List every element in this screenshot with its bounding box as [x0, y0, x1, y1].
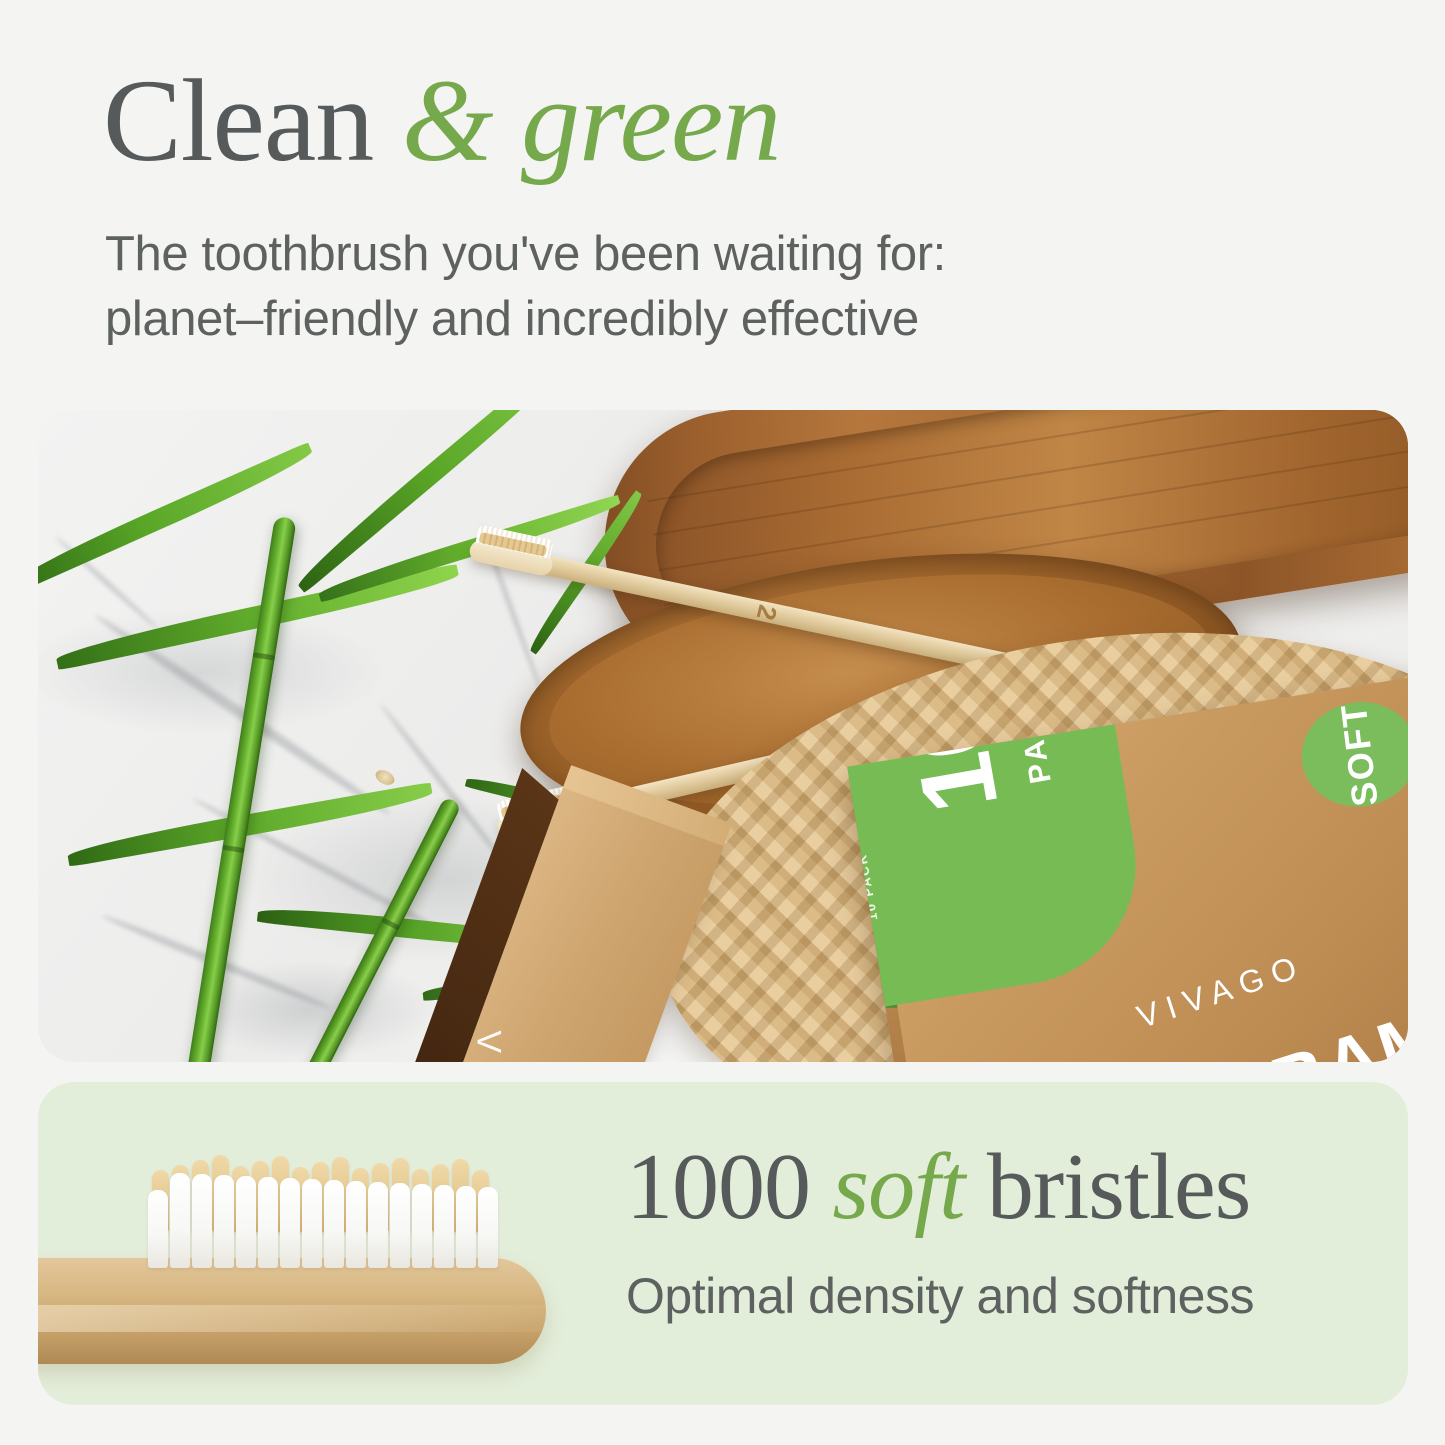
bristle-tuft [434, 1185, 454, 1268]
bristle-tuft [236, 1176, 256, 1268]
sleeve-brand-label: VIVA [469, 1030, 508, 1062]
subtitle-line-2: planet–friendly and incredibly effective [105, 287, 1265, 352]
headline-accent: & green [402, 55, 781, 186]
bristle-tuft [412, 1184, 432, 1268]
feature-subtitle: Optimal density and softness [626, 1268, 1396, 1326]
feature-title-part2: bristles [964, 1135, 1250, 1239]
brush-head-closeup-photo [38, 1100, 586, 1400]
bristle-tuft [148, 1190, 168, 1268]
bristle-tuft [478, 1187, 498, 1268]
box-brand-label: VIVAGO [1132, 947, 1309, 1036]
feature-panel: 1000 soft bristles Optimal density and s… [38, 1082, 1408, 1405]
hero-photo-panel: 2 1 VIVA 10 PACK [38, 410, 1408, 1062]
subtitle-line-1: The toothbrush you've been waiting for: [105, 222, 1265, 287]
bristle-tuft [214, 1175, 234, 1268]
bristle-tuft [368, 1182, 388, 1268]
product-marketing-page: Clean & green The toothbrush you've been… [0, 0, 1445, 1445]
bristle-field [144, 1138, 504, 1278]
bristle-tuft [390, 1183, 410, 1268]
bristle-tuft [170, 1173, 190, 1268]
headline-primary: Clean [103, 55, 402, 186]
feature-title: 1000 soft bristles [626, 1140, 1396, 1234]
bristle-tuft [324, 1180, 344, 1268]
hero-scene: 2 1 VIVA 10 PACK [38, 410, 1408, 1062]
feature-title-accent: soft [833, 1135, 965, 1239]
bristle-tuft [258, 1177, 278, 1268]
soft-badge: SOFT [1294, 694, 1408, 815]
page-title: Clean & green [103, 62, 780, 180]
handle-number: 2 [750, 601, 784, 623]
soft-badge-label: SOFT [1332, 700, 1386, 808]
feature-title-part1: 1000 [626, 1135, 833, 1239]
bristle-tuft [456, 1186, 476, 1268]
header-section: Clean & green The toothbrush you've been… [0, 0, 1445, 400]
bristle-tuft [302, 1179, 322, 1268]
page-subtitle: The toothbrush you've been waiting for: … [105, 222, 1265, 351]
bristle-tuft [280, 1178, 300, 1268]
feature-text-block: 1000 soft bristles Optimal density and s… [626, 1140, 1396, 1326]
bristle-tuft [192, 1174, 212, 1268]
bristle-tuft [346, 1181, 366, 1268]
